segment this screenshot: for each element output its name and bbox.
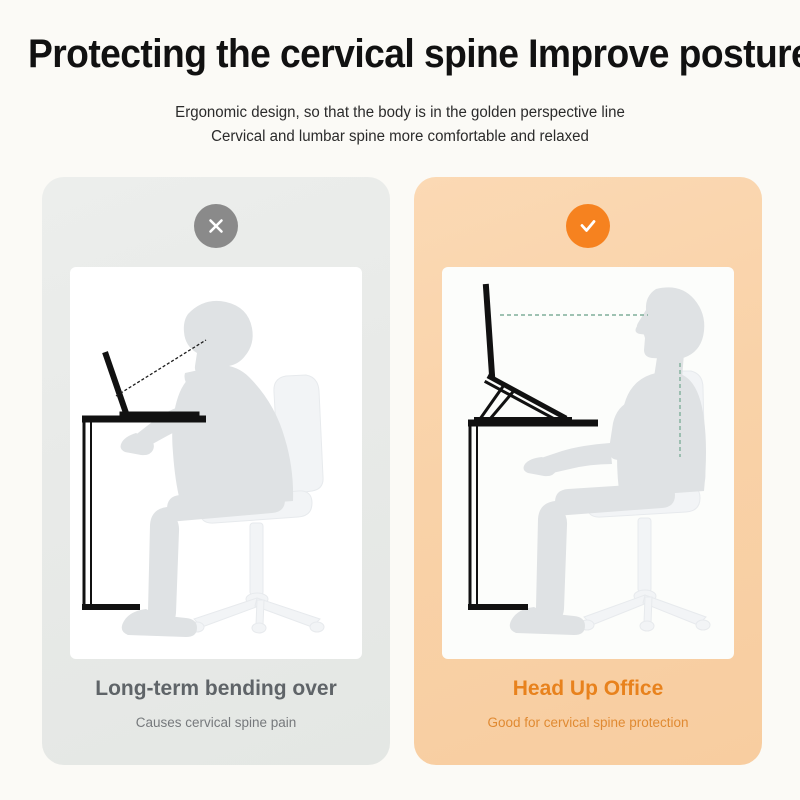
illustration-bad-posture xyxy=(70,267,362,659)
subtitle-line-1: Ergonomic design, so that the body is in… xyxy=(12,101,788,125)
subtitle-line-2: Cervical and lumbar spine more comfortab… xyxy=(12,125,788,149)
panel-bad-posture: Long-term bending over Causes cervical s… xyxy=(42,177,390,765)
page-subtitle: Ergonomic design, so that the body is in… xyxy=(12,77,788,149)
header: Protecting the cervical spine Improve po… xyxy=(0,0,800,149)
caption-sub-bad: Causes cervical spine pain xyxy=(42,715,390,730)
panel-good-posture: Head Up Office Good for cervical spine p… xyxy=(414,177,762,765)
check-icon xyxy=(566,204,610,248)
page-title: Protecting the cervical spine Improve po… xyxy=(28,0,772,77)
cross-icon xyxy=(194,204,238,248)
caption-main-good: Head Up Office xyxy=(414,677,762,701)
illustration-good-posture xyxy=(442,267,734,659)
caption-main-bad: Long-term bending over xyxy=(42,677,390,701)
caption-sub-good: Good for cervical spine protection xyxy=(414,715,762,730)
